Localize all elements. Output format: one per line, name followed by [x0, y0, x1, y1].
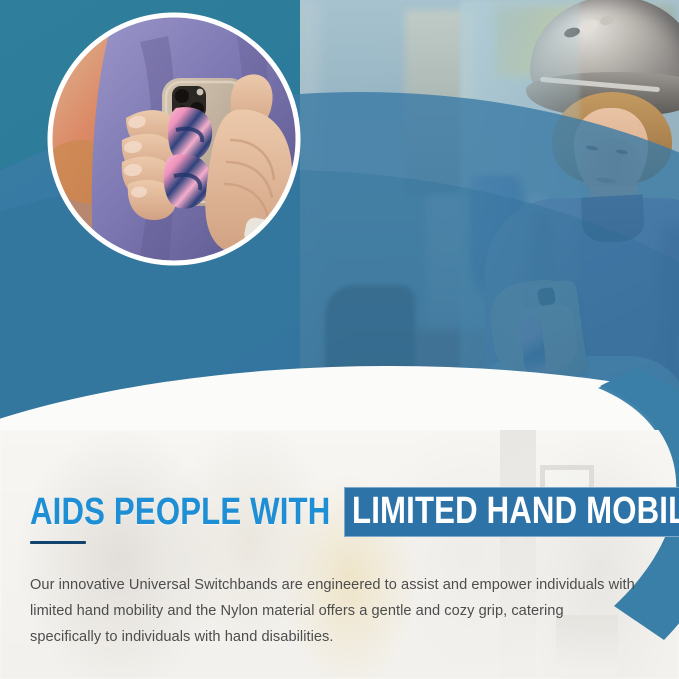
banner-page: AIDS PEOPLE WITH LIMITED HAND MOBILITY O…	[0, 0, 679, 679]
section-divider	[30, 541, 86, 544]
headline: AIDS PEOPLE WITH LIMITED HAND MOBILITY	[30, 487, 679, 537]
body-paragraph: Our innovative Universal Switchbands are…	[30, 572, 638, 650]
hero-photo-panel	[0, 0, 679, 450]
headline-accent-text: AIDS PEOPLE WITH	[30, 493, 330, 531]
headline-highlight-box: LIMITED HAND MOBILITY	[344, 487, 679, 537]
headline-boxed-text: LIMITED HAND MOBILITY	[352, 492, 679, 530]
